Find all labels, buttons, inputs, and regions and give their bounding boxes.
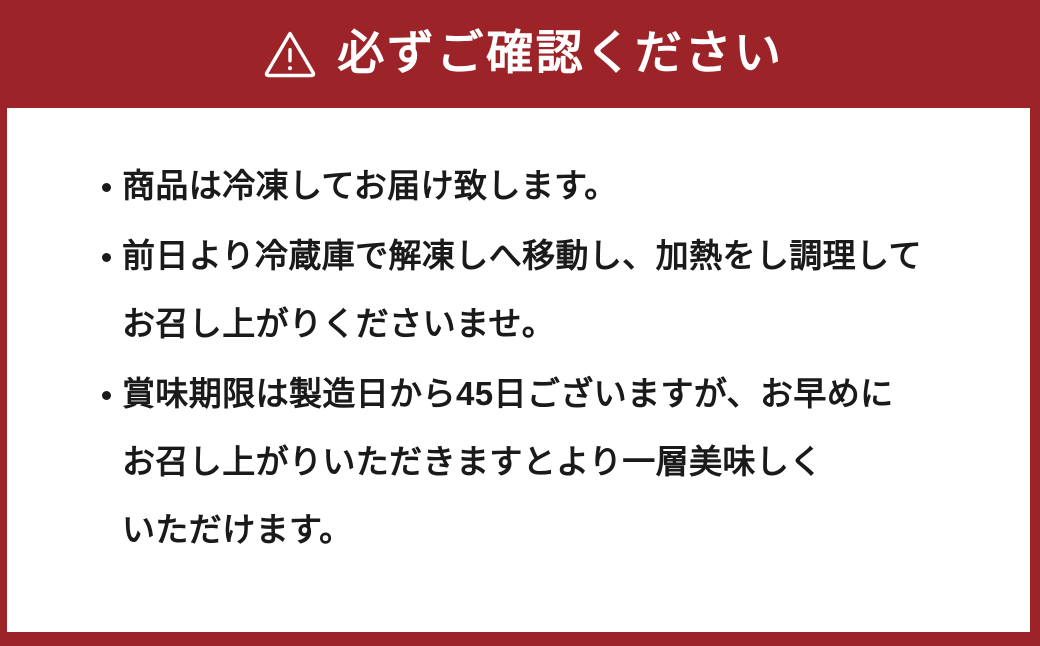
list-item: 前日より冷蔵庫で解凍しへ移動し、加熱をし調理して お召し上がりくださいませ。 [100,222,1008,358]
notice-bullet-list: 商品は冷凍してお届け致します。 前日より冷蔵庫で解凍しへ移動し、加熱をし調理して… [100,152,1008,564]
list-item-line: 前日より冷蔵庫で解凍しへ移動し、加熱をし調理して [122,222,1008,290]
notice-header: 必ずご確認ください [0,0,1040,108]
notice-card: 必ずご確認ください 商品は冷凍してお届け致します。 前日より冷蔵庫で解凍しへ移動… [0,0,1040,646]
bullet-marker-icon [102,152,113,220]
notice-body: 商品は冷凍してお届け致します。 前日より冷蔵庫で解凍しへ移動し、加熱をし調理して… [7,108,1030,564]
list-item-line: いただけます。 [122,496,1008,564]
list-item: 賞味期限は製造日から45日ございますが、お早めに お召し上がりいただきますとより… [100,360,1008,564]
page-title: 必ずご確認ください [337,29,783,76]
list-item: 商品は冷凍してお届け致します。 [100,152,1008,220]
list-item-line: 賞味期限は製造日から45日ございますが、お早めに [122,360,1008,428]
bullet-marker-icon [102,360,113,428]
warning-triangle-icon [263,27,317,81]
bullet-marker-icon [102,222,113,290]
list-item-line: 商品は冷凍してお届け致します。 [122,152,1008,220]
list-item-line: お召し上がりいただきますとより一層美味しく [122,428,1008,496]
list-item-line: お召し上がりくださいませ。 [122,290,1008,358]
